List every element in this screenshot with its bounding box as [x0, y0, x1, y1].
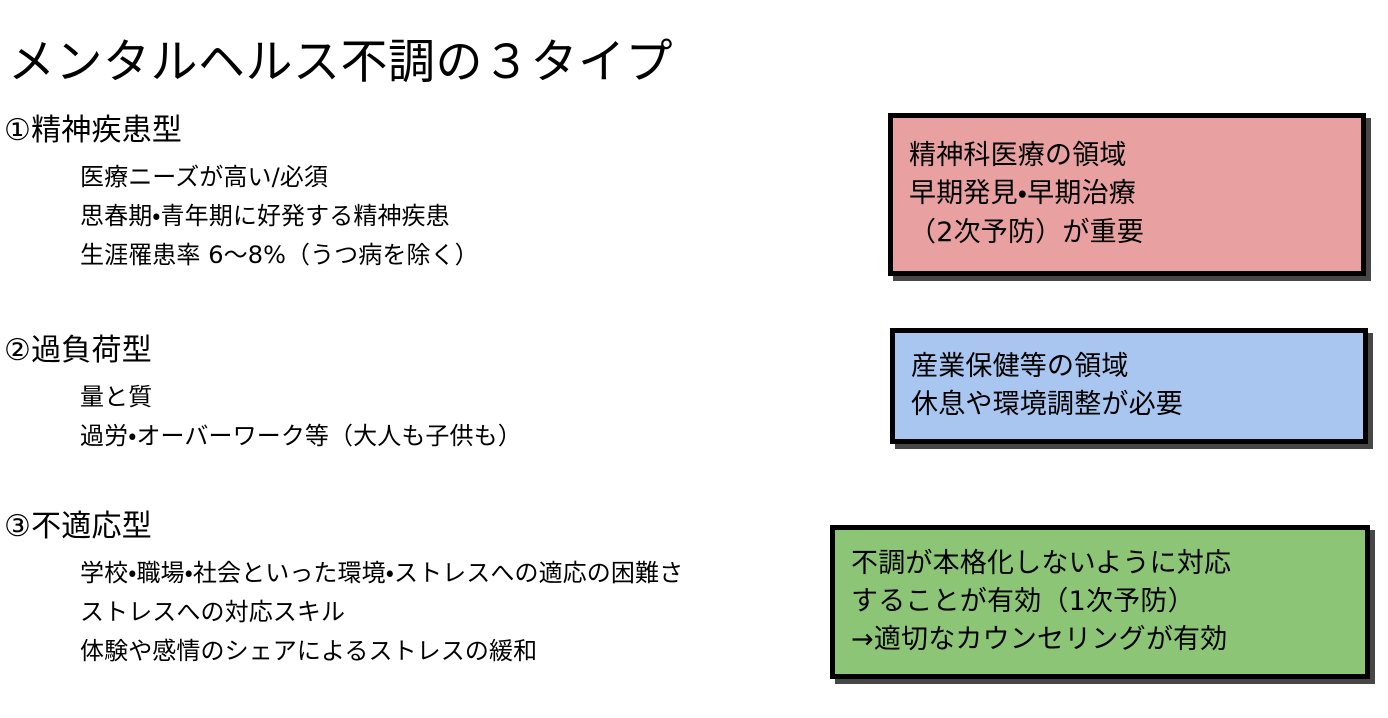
page-title: メンタルヘルス不調の３タイプ [8, 33, 673, 93]
list-item: 過労・オーバーワーク等（大人も子供も） [80, 417, 522, 456]
section-heading: ②過負荷型 [4, 332, 522, 370]
list-item: 学校・職場・社会といった環境・ストレスへの適応の困難さ [80, 554, 683, 593]
callout-box-medical: 精神科医療の領域 早期発見・早期治療 （2次予防）が重要 [888, 113, 1366, 276]
callout-line: （2次予防）が重要 [909, 214, 1361, 252]
list-item: 思春期・青年期に好発する精神疾患 [80, 197, 479, 236]
list-item: ストレスへの対応スキル [80, 593, 683, 632]
list-item: 生涯罹患率 6〜8%（うつ病を除く） [80, 236, 479, 275]
section-maladjustment-type: ③不適応型 学校・職場・社会といった環境・ストレスへの適応の困難さ ストレスへの… [4, 508, 683, 671]
section-bullet-list: 量と質 過労・オーバーワーク等（大人も子供も） [4, 378, 522, 456]
callout-box-prevention: 不調が本格化しないように対応 することが有効（1次予防） →適切なカウンセリング… [830, 525, 1370, 679]
callout-box-occupational: 産業保健等の領域 休息や環境調整が必要 [890, 328, 1368, 444]
section-heading: ①精神疾患型 [4, 112, 479, 150]
list-item: 量と質 [80, 378, 522, 417]
callout-line: →適切なカウンセリングが有効 [851, 621, 1365, 659]
callout-line: 早期発見・早期治療 [909, 175, 1361, 213]
callout-line: することが有効（1次予防） [851, 583, 1365, 621]
section-overload-type: ②過負荷型 量と質 過労・オーバーワーク等（大人も子供も） [4, 332, 522, 456]
callout-line: 不調が本格化しないように対応 [851, 545, 1365, 583]
list-item: 医療ニーズが高い/必須 [80, 158, 479, 197]
callout-line: 休息や環境調整が必要 [911, 386, 1363, 424]
callout-line: 産業保健等の領域 [911, 348, 1363, 386]
slide-canvas: メンタルヘルス不調の３タイプ ①精神疾患型 医療ニーズが高い/必須 思春期・青年… [0, 0, 1388, 718]
list-item: 体験や感情のシェアによるストレスの緩和 [80, 632, 683, 671]
section-heading: ③不適応型 [4, 508, 683, 546]
section-bullet-list: 学校・職場・社会といった環境・ストレスへの適応の困難さ ストレスへの対応スキル … [4, 554, 683, 671]
section-bullet-list: 医療ニーズが高い/必須 思春期・青年期に好発する精神疾患 生涯罹患率 6〜8%（… [4, 158, 479, 275]
section-psychiatric-disorder-type: ①精神疾患型 医療ニーズが高い/必須 思春期・青年期に好発する精神疾患 生涯罹患… [4, 112, 479, 275]
callout-line: 精神科医療の領域 [909, 137, 1361, 175]
